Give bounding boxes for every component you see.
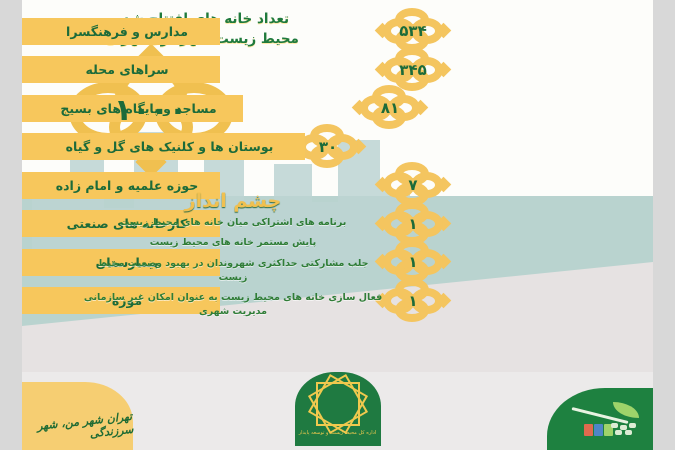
total-value: ۱۰۰۰ (63, 58, 238, 163)
badge-value: ۷ (381, 164, 445, 206)
paper-pile-icon (611, 423, 641, 436)
vision-item: فعال سازی خانه های محیط زیست به عنوان ام… (83, 291, 383, 320)
vision-item: جلب مشارکتی حداکثری شهروندان در بهبود وض… (83, 257, 383, 286)
tehran-municipality-emblem-icon (316, 382, 360, 426)
infographic-poster: تعداد خانه های افتتاح شده محیط زیست شهرد… (22, 0, 653, 450)
badge-value: ۳۴۵ (381, 49, 445, 91)
recycling-bin-icon (594, 424, 603, 436)
value-badge: ۷ (381, 164, 445, 206)
badge-value: ۳۰ (296, 126, 360, 168)
badge-value: ۱ (381, 241, 445, 283)
value-badge: ۳۰ (296, 126, 360, 168)
category-bar[interactable]: مدارس و فرهنگسرا (22, 18, 220, 45)
badge-value: ۸۱ (358, 87, 422, 129)
category-row[interactable]: ۵۳۴مدارس و فرهنگسرا (22, 14, 653, 48)
tehran-municipality-logo: اداره کل محیط زیست و توسعه پایدار (295, 372, 381, 446)
value-badge: ۵۳۴ (381, 10, 445, 52)
vision-item: پایش مستمر خانه های محیط زیست (83, 236, 383, 250)
slogan-logo: تهران شهر من، شهر سرزندگی (22, 382, 133, 450)
total-medallion: ۱۰۰۰ (63, 58, 238, 163)
value-badge: ۳۴۵ (381, 49, 445, 91)
slogan-text: تهران شهر من، شهر سرزندگی (22, 410, 134, 448)
leaf-icon (613, 402, 639, 418)
vision-item: برنامه های اشتراکی میان خانه های محیط زی… (83, 216, 383, 230)
value-badge: ۸۱ (358, 87, 422, 129)
value-badge: ۱ (381, 203, 445, 245)
recycling-bin-icon (584, 424, 593, 436)
badge-value: ۱ (381, 203, 445, 245)
value-badge: ۱ (381, 280, 445, 322)
badge-value: ۱ (381, 280, 445, 322)
value-badge: ۱ (381, 241, 445, 283)
category-row[interactable]: ۷حوزه علمیه و امام زاده (22, 168, 653, 202)
logo-caption: اداره کل محیط زیست و توسعه پایدار (299, 430, 377, 436)
vision-list: برنامه های اشتراکی میان خانه های محیط زی… (83, 216, 383, 326)
badge-value: ۵۳۴ (381, 10, 445, 52)
vision-heading: چشم انداز (143, 190, 323, 212)
